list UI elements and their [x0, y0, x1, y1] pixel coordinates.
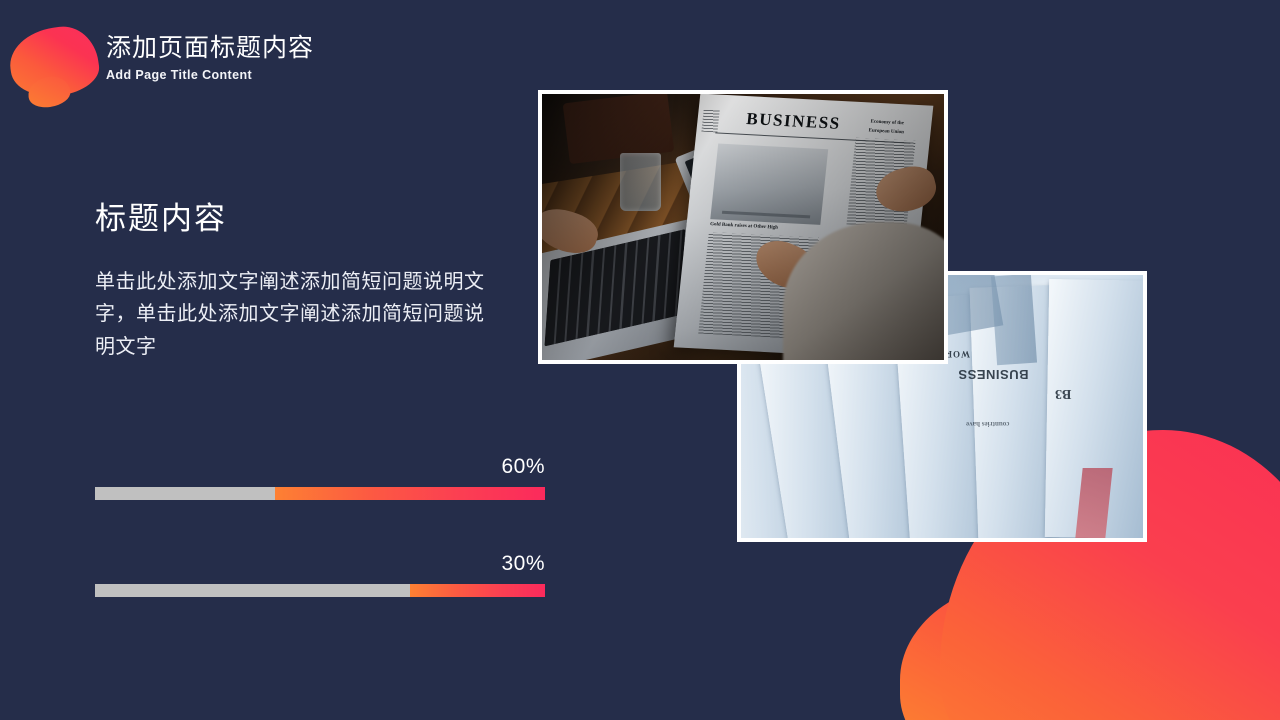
- progress-bar-item: 30%: [95, 552, 545, 597]
- progress-fill: [410, 584, 545, 597]
- page-title: 添加页面标题内容: [106, 34, 314, 63]
- photo-person-reading-newspaper[interactable]: BUSINESS Economy of the European Union G…: [538, 90, 948, 364]
- photo-person-reading-newspaper-inner: BUSINESS Economy of the European Union G…: [542, 94, 944, 360]
- newspaper-snippet: countries have: [966, 420, 1009, 428]
- newspaper-word-business: BUSINESS: [958, 367, 1028, 382]
- section-heading: 标题内容: [95, 193, 227, 238]
- slide-root: 添加页面标题内容 Add Page Title Content 标题内容 单击此…: [0, 0, 1280, 720]
- progress-track[interactable]: [95, 487, 545, 500]
- scene-vignette: [542, 94, 944, 360]
- slide-header: 添加页面标题内容 Add Page Title Content: [106, 34, 314, 82]
- page-subtitle: Add Page Title Content: [106, 68, 314, 82]
- progress-track[interactable]: [95, 584, 545, 597]
- progress-bar-list: 60% 30%: [95, 455, 545, 597]
- progress-fill: [275, 487, 545, 500]
- progress-label: 30%: [95, 552, 545, 576]
- section-body-text: 单击此处添加文字阐述添加简短问题说明文字，单击此处添加文字阐述添加简短问题说明文…: [95, 266, 485, 363]
- newspaper-shadow: [991, 275, 1037, 366]
- progress-bar-item: 60%: [95, 455, 545, 500]
- decorative-blob-top-left: [6, 22, 103, 102]
- progress-label: 60%: [95, 455, 545, 479]
- newspaper-page-number: B3: [1055, 385, 1071, 401]
